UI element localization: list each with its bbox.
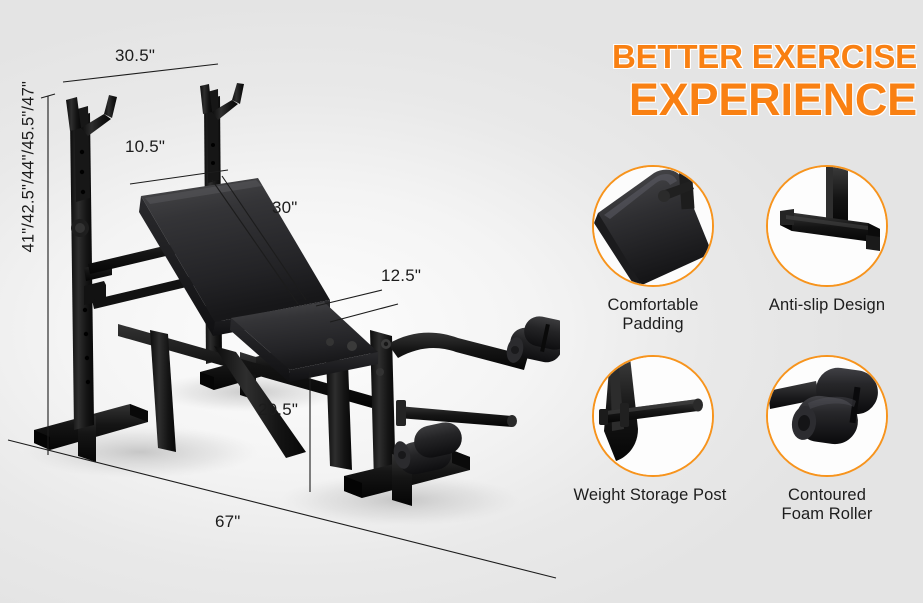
- feature-weight-storage-post-label: Weight Storage Post: [562, 486, 738, 505]
- feature-label-line-2: Foam Roller: [782, 505, 873, 523]
- marketing-panel: BETTER EXERCISE EXPERIENCE: [548, 0, 923, 603]
- feature-label-line-2: Padding: [622, 315, 683, 333]
- feature-contoured-foam-roller: ContouredFoam Roller: [742, 355, 912, 525]
- feature-anti-slip-design: Anti-slip Design: [742, 165, 912, 315]
- feature-label-line-1: Comfortable: [608, 296, 699, 314]
- feature-comfortable-padding-circle: [592, 165, 714, 287]
- headline-line-1: BETTER EXERCISE: [548, 40, 917, 73]
- seat-pad-length-dimension: 12.5": [381, 266, 421, 286]
- feature-weight-storage-post-circle: [592, 355, 714, 477]
- feature-label-line-1: Contoured: [788, 486, 866, 504]
- feature-weight-storage-post: Weight Storage Post: [568, 355, 738, 505]
- storage-post-icon: [594, 357, 712, 475]
- stabilizer-foot-icon: [768, 167, 886, 285]
- feature-contoured-foam-roller-label: ContouredFoam Roller: [742, 486, 912, 525]
- foam-roller-icon: [768, 357, 886, 475]
- product-infographic: 41"/42.5"/44"/45.5"/47" 30.5" 10.5" 30" …: [0, 0, 923, 603]
- headline: BETTER EXERCISE EXPERIENCE: [548, 40, 923, 122]
- backrest-width-dimension: 10.5": [125, 137, 165, 157]
- product-photo-region: 41"/42.5"/44"/45.5"/47" 30.5" 10.5" 30" …: [0, 0, 560, 603]
- rack-height-dimension: 41"/42.5"/44"/45.5"/47": [20, 103, 39, 253]
- headline-line-2: EXPERIENCE: [548, 77, 917, 122]
- feature-comfortable-padding-label: ComfortablePadding: [568, 296, 738, 335]
- overall-length-dimension: 67": [215, 512, 241, 532]
- feature-anti-slip-design-label: Anti-slip Design: [742, 296, 912, 315]
- feature-anti-slip-design-circle: [766, 165, 888, 287]
- dimension-lines: [0, 0, 560, 603]
- bench-pad-icon: [594, 167, 712, 285]
- feature-contoured-foam-roller-circle: [766, 355, 888, 477]
- rack-width-dimension: 30.5": [115, 46, 155, 66]
- bench-height-dimension: 20.5": [258, 400, 298, 420]
- incline-pad-length-dimension: 30": [272, 198, 298, 218]
- feature-comfortable-padding: ComfortablePadding: [568, 165, 738, 335]
